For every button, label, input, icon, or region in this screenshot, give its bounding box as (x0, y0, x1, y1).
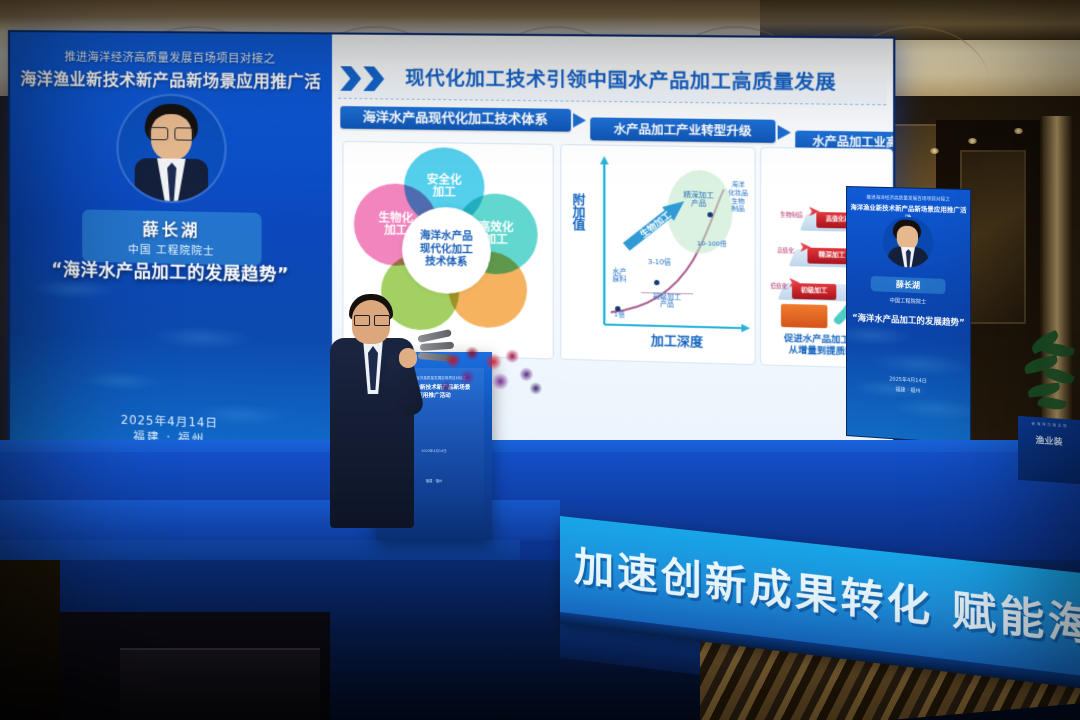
data-point (707, 212, 712, 217)
chart-side-note: 海洋 化妆品 生物 制品 (726, 181, 750, 214)
double-chevron-icon (340, 66, 401, 91)
point-value-2: 3-10倍 (639, 259, 680, 268)
up-arrow-icon: ➤ (799, 239, 812, 256)
point-label-1: 水产 原料 (598, 268, 641, 285)
up-arrow-icon: ➤ (788, 275, 801, 292)
value-curve-card: 附加值 加工深度 水产 原料 1倍 3-10倍 初级加工 产品 精深加工 产品 … (560, 144, 755, 365)
data-point (654, 280, 659, 285)
screen-left-panel: 推进海洋经济高质量发展百场项目对接之 海洋渔业新技术新产品新场景应用推广活动 薛… (10, 32, 332, 474)
flow-box-2: 水产品加工产业转型升级 (590, 117, 775, 142)
chart-x-label: 加工深度 (617, 331, 737, 352)
point-value-1: 1倍 (604, 312, 634, 320)
speaker-hand (399, 348, 417, 368)
side-panel-text: 渔业装 (1018, 432, 1080, 449)
point-label-2: 初级加工 产品 (641, 292, 693, 310)
ceiling-spotlight (930, 148, 939, 154)
side-panel-small-text: 省 海 洋 与 渔 业 局 (1018, 420, 1080, 430)
event-subtitle: 推进海洋经济高质量发展百场项目对接之 (10, 48, 332, 67)
flow-arrow-icon (573, 113, 586, 128)
ceiling-spotlight (968, 138, 977, 144)
side-speaker-portrait (883, 216, 933, 268)
chart-y-label: 附加值 (570, 193, 588, 231)
flower-arrangement (432, 338, 550, 408)
speaker-portrait (119, 95, 225, 202)
up-arrow-icon: ➤ (807, 203, 820, 220)
slide-title: 现代化加工技术引领中国水产品加工高质量发展 (405, 64, 836, 95)
flow-arrow-icon (778, 125, 791, 140)
venn-label: 安全化 加工 (427, 174, 462, 198)
conference-photo: 推进海洋经济高质量发展百场项目对接之 海洋渔业新技术新产品新场景应用推广活动 薛… (0, 0, 1080, 720)
ceiling-spotlight (1014, 128, 1023, 134)
speaker-name: 薛长湖 (82, 214, 261, 242)
venn-center-label: 海洋水产品 现代化加工 技术体系 (402, 206, 491, 294)
glasses-icon (354, 315, 390, 324)
foreground-case (120, 648, 320, 720)
stair-label-3: 生物制造 (772, 211, 803, 219)
foreground-cables (0, 560, 60, 720)
glasses-icon (149, 127, 194, 139)
stair-label-2: 高值化 (766, 247, 795, 255)
stair-label-1: 低值化 (761, 282, 787, 290)
point-value-3: 10-100倍 (687, 241, 737, 249)
flow-box-1: 海洋水产品现代化加工技术体系 (340, 106, 571, 132)
side-speaker-name: 薛长湖 (871, 276, 946, 294)
side-banner-panel: 省 海 洋 与 渔 业 局 渔业装 (1018, 416, 1080, 484)
side-led-screen: 推进海洋经济高质量发展百场项目对接之 海洋渔业新技术新产品新场景应用推广活动 薛… (846, 186, 971, 445)
